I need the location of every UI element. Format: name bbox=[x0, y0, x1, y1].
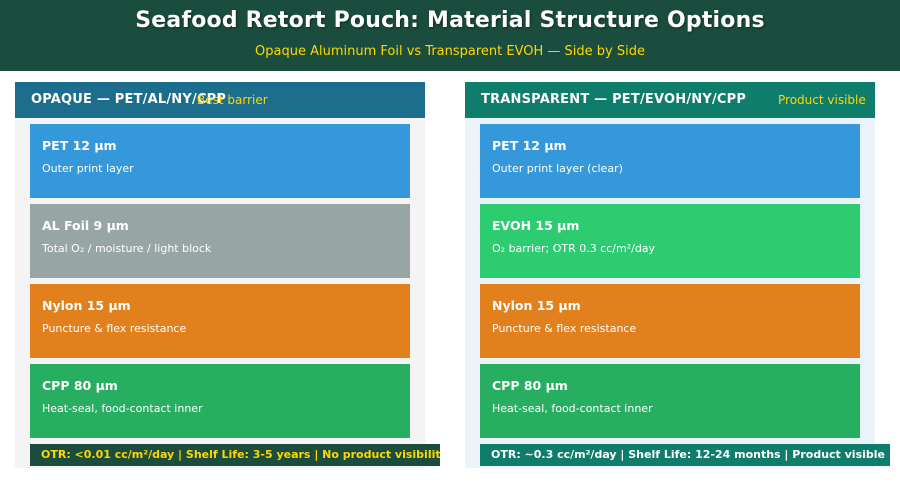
layer-row: Nylon 15 µm Puncture & flex resistance bbox=[480, 284, 860, 358]
stat-bar-text: OTR: <0.01 cc/m²/day | Shelf Life: 3-5 y… bbox=[41, 448, 440, 461]
panel-transparent-header: TRANSPARENT — PET/EVOH/NY/CPP Product vi… bbox=[465, 82, 875, 118]
header-band: Seafood Retort Pouch: Material Structure… bbox=[0, 0, 900, 71]
layer-row: CPP 80 µm Heat-seal, food-contact inner bbox=[480, 364, 860, 438]
layer-description: Heat-seal, food-contact inner bbox=[42, 402, 203, 415]
layer-description: Heat-seal, food-contact inner bbox=[492, 402, 653, 415]
layer-name: AL Foil 9 µm bbox=[42, 218, 129, 233]
layer-name: CPP 80 µm bbox=[42, 378, 118, 393]
layer-row: PET 12 µm Outer print layer (clear) bbox=[480, 124, 860, 198]
panel-transparent: TRANSPARENT — PET/EVOH/NY/CPP Product vi… bbox=[465, 82, 875, 468]
panel-opaque-layer-stack: PET 12 µm Outer print layer AL Foil 9 µm… bbox=[30, 124, 410, 444]
layer-name: Nylon 15 µm bbox=[492, 298, 581, 313]
layer-name: PET 12 µm bbox=[42, 138, 117, 153]
layer-row: PET 12 µm Outer print layer bbox=[30, 124, 410, 198]
layer-row: AL Foil 9 µm Total O₂ / moisture / light… bbox=[30, 204, 410, 278]
panel-opaque-badge: Best barrier bbox=[197, 93, 268, 107]
layer-row: EVOH 15 µm O₂ barrier; OTR 0.3 cc/m²/day bbox=[480, 204, 860, 278]
layer-description: Outer print layer (clear) bbox=[492, 162, 623, 175]
panel-transparent-stat-bar: OTR: ~0.3 cc/m²/day | Shelf Life: 12-24 … bbox=[480, 444, 890, 466]
layer-description: Puncture & flex resistance bbox=[492, 322, 636, 335]
panel-transparent-layer-stack: PET 12 µm Outer print layer (clear) EVOH… bbox=[480, 124, 860, 444]
layer-row: CPP 80 µm Heat-seal, food-contact inner bbox=[30, 364, 410, 438]
layer-name: Nylon 15 µm bbox=[42, 298, 131, 313]
panel-transparent-badge: Product visible bbox=[778, 93, 866, 107]
panel-transparent-title: TRANSPARENT — PET/EVOH/NY/CPP bbox=[481, 92, 746, 107]
layer-description: O₂ barrier; OTR 0.3 cc/m²/day bbox=[492, 242, 655, 255]
panel-opaque: OPAQUE — PET/AL/NY/CPP Best barrier PET … bbox=[15, 82, 425, 468]
panel-opaque-stat-bar: OTR: <0.01 cc/m²/day | Shelf Life: 3-5 y… bbox=[30, 444, 440, 466]
infographic-page: Seafood Retort Pouch: Material Structure… bbox=[0, 0, 900, 500]
layer-description: Puncture & flex resistance bbox=[42, 322, 186, 335]
layer-name: EVOH 15 µm bbox=[492, 218, 579, 233]
layer-name: PET 12 µm bbox=[492, 138, 567, 153]
stat-bar-text: OTR: ~0.3 cc/m²/day | Shelf Life: 12-24 … bbox=[491, 448, 885, 461]
layer-name: CPP 80 µm bbox=[492, 378, 568, 393]
layer-description: Total O₂ / moisture / light block bbox=[42, 242, 211, 255]
layer-row: Nylon 15 µm Puncture & flex resistance bbox=[30, 284, 410, 358]
page-title: Seafood Retort Pouch: Material Structure… bbox=[0, 8, 900, 33]
page-subtitle: Opaque Aluminum Foil vs Transparent EVOH… bbox=[0, 44, 900, 59]
layer-description: Outer print layer bbox=[42, 162, 134, 175]
panel-opaque-header: OPAQUE — PET/AL/NY/CPP Best barrier bbox=[15, 82, 425, 118]
